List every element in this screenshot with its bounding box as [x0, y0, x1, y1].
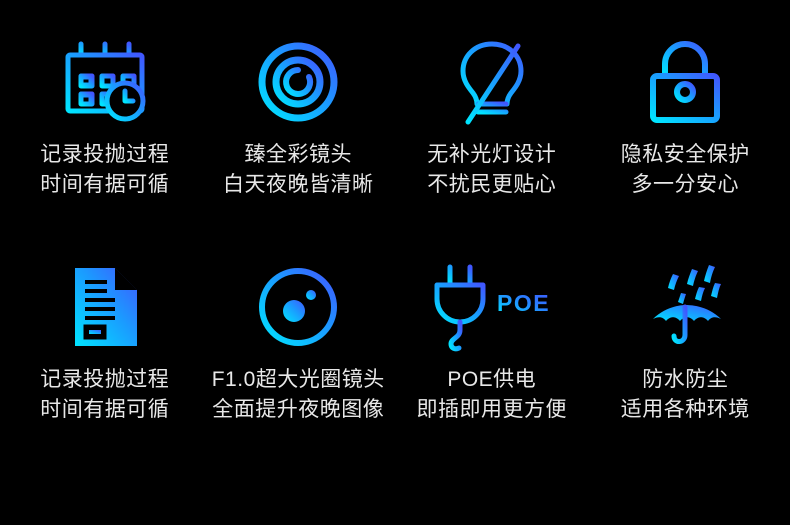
feature-item-no-fill-light: 无补光灯设计 不扰民更贴心: [395, 30, 589, 255]
feature-label-line2: 不扰民更贴心: [427, 170, 556, 200]
feature-label-line2: 适用各种环境: [621, 395, 750, 425]
no-fill-light-bulb-icon: [452, 30, 532, 134]
feature-label-line2: 即插即用更方便: [417, 395, 568, 425]
feature-label-line2: 多一分安心: [621, 170, 750, 200]
feature-item-waterproof: 防水防尘 适用各种环境: [589, 255, 783, 480]
large-aperture-lens-icon: [255, 255, 341, 359]
feature-label-group: 隐私安全保护 多一分安心: [621, 140, 750, 200]
feature-label-group: 记录投抛过程 时间有据可循: [40, 140, 169, 200]
feature-item-calendar-clock: 记录投抛过程 时间有据可循: [8, 30, 202, 255]
features-grid: 记录投抛过程 时间有据可循 臻全彩镜头 白天夜晚皆清晰: [0, 0, 790, 525]
feature-label-group: 臻全彩镜头 白天夜晚皆清晰: [223, 140, 374, 200]
feature-item-full-color-lens: 臻全彩镜头 白天夜晚皆清晰: [202, 30, 396, 255]
feature-grid-panel: 记录投抛过程 时间有据可循 臻全彩镜头 白天夜晚皆清晰: [0, 0, 790, 525]
feature-item-document-record: 记录投抛过程 时间有据可循: [8, 255, 202, 480]
poe-icon-text: POE: [497, 290, 550, 316]
feature-label-group: POE供电 即插即用更方便: [417, 365, 568, 425]
feature-label-group: 防水防尘 适用各种环境: [621, 365, 750, 425]
calendar-clock-icon: [62, 30, 148, 134]
waterproof-umbrella-icon: [637, 255, 733, 359]
feature-item-poe-power: POE POE供电 即插即用更方便: [395, 255, 589, 480]
feature-label-line1: POE供电: [447, 368, 536, 391]
full-color-lens-icon: [255, 30, 341, 134]
feature-label-line2: 白天夜晚皆清晰: [223, 170, 374, 200]
document-record-icon: [69, 255, 141, 359]
feature-label-line2: 时间有据可循: [40, 170, 169, 200]
feature-label-line1: 隐私安全保护: [621, 143, 750, 166]
feature-label-line1: 记录投抛过程: [40, 368, 169, 391]
feature-label-line2: 时间有据可循: [40, 395, 169, 425]
feature-label-group: F1.0超大光圈镜头 全面提升夜晚图像: [212, 365, 385, 425]
feature-label-group: 记录投抛过程 时间有据可循: [40, 365, 169, 425]
feature-label-line1: 防水防尘: [642, 368, 728, 391]
feature-label-group: 无补光灯设计 不扰民更贴心: [427, 140, 556, 200]
feature-label-line2: 全面提升夜晚图像: [212, 395, 385, 425]
poe-power-plug-icon: POE: [427, 255, 557, 359]
feature-item-large-aperture: F1.0超大光圈镜头 全面提升夜晚图像: [202, 255, 396, 480]
feature-label-line1: 记录投抛过程: [40, 143, 169, 166]
feature-item-privacy-lock: 隐私安全保护 多一分安心: [589, 30, 783, 255]
privacy-lock-icon: [645, 30, 725, 134]
feature-label-line1: F1.0超大光圈镜头: [212, 368, 385, 391]
feature-label-line1: 无补光灯设计: [427, 143, 556, 166]
feature-label-line1: 臻全彩镜头: [245, 143, 353, 166]
